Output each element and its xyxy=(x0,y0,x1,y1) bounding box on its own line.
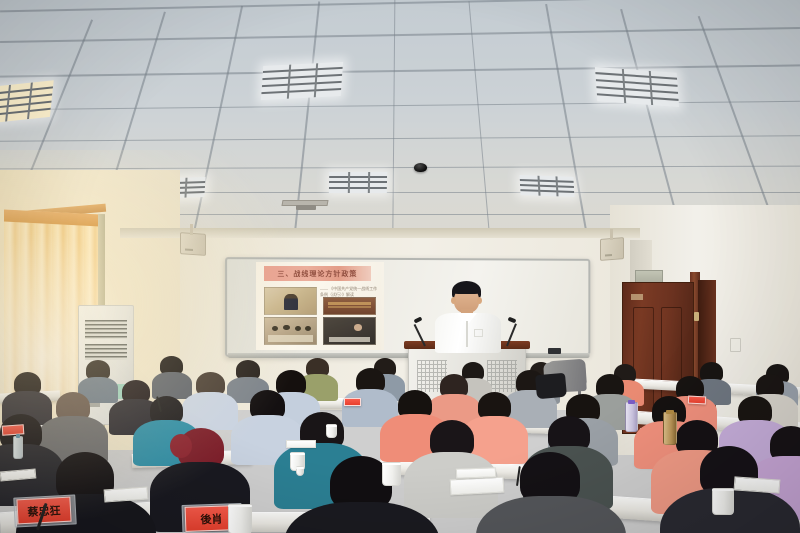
classroom-scene: 三、战线理论方针政策 —— 《中国共产党统一战线工作条例（试行）》解读 xyxy=(0,0,800,533)
slide-subtitle: —— 《中国共产党统一战线工作条例（试行）》解读 xyxy=(320,286,379,298)
water-bottle[interactable] xyxy=(625,402,638,432)
slide-photo-meeting xyxy=(264,317,318,344)
name-card xyxy=(344,398,361,406)
notebook[interactable] xyxy=(450,477,505,496)
notebook[interactable] xyxy=(456,467,496,478)
presenter-pocket xyxy=(474,329,483,337)
presenter-placket xyxy=(466,321,468,347)
ceiling-light-panel xyxy=(0,80,54,124)
name-card-text: 後肖 xyxy=(200,510,223,527)
paper-cup[interactable] xyxy=(228,504,252,533)
paper-cup[interactable] xyxy=(326,424,337,438)
whiteboard-eraser[interactable] xyxy=(548,348,561,354)
notebook[interactable] xyxy=(104,486,149,502)
speaker-bracket xyxy=(190,224,193,235)
ceiling-projector xyxy=(296,205,316,210)
dome-camera-icon xyxy=(414,163,427,172)
wall-speaker xyxy=(600,237,624,261)
door-plate xyxy=(631,294,642,300)
ceiling-light-panel xyxy=(329,172,387,193)
slide-photo-speaker xyxy=(264,287,318,315)
light-switch-plate[interactable] xyxy=(730,338,741,352)
slide-photo-conference xyxy=(323,317,377,344)
projected-slide: 三、战线理论方针政策 —— 《中国共产党统一战线工作条例（试行）》解读 xyxy=(256,262,384,350)
paper-cup[interactable] xyxy=(712,488,734,515)
ceiling-light-panel xyxy=(519,175,574,197)
ceiling-light-panel xyxy=(595,67,679,107)
paper-cup[interactable] xyxy=(382,462,401,486)
slide-photo-banner xyxy=(323,297,377,315)
name-card xyxy=(2,424,25,436)
paper-cup[interactable] xyxy=(296,466,304,476)
presenter-hair-front xyxy=(453,285,480,294)
ceiling-light-panel xyxy=(261,62,343,100)
notebook[interactable] xyxy=(286,440,316,448)
name-card xyxy=(688,396,706,405)
bag[interactable] xyxy=(535,373,567,400)
water-bottle[interactable] xyxy=(663,412,677,445)
door-handle-icon[interactable] xyxy=(694,312,699,321)
speaker-bracket xyxy=(610,229,613,240)
wall-speaker xyxy=(180,232,206,256)
slide-title: 三、战线理论方针政策 xyxy=(264,266,372,281)
hair-bun xyxy=(170,434,192,458)
water-bottle[interactable] xyxy=(13,436,23,459)
presenter xyxy=(424,281,514,351)
